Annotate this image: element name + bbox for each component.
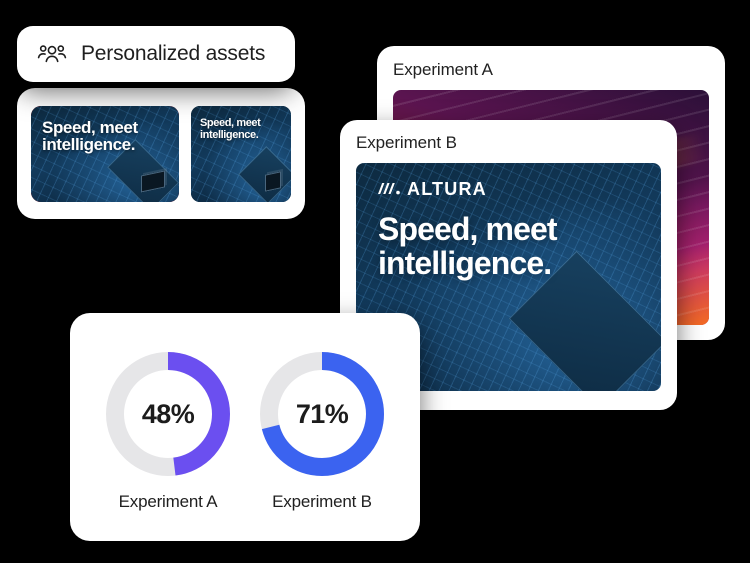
creative-headline-line-1: Speed, meet — [378, 213, 557, 247]
donut-value-experiment-b: 71% — [256, 348, 388, 480]
altura-logo: ALTURA — [378, 179, 557, 200]
donut-value-experiment-a: 48% — [102, 348, 234, 480]
thumbnail-headline: Speed, meet intelligence. — [200, 117, 282, 143]
metric-label-experiment-b: Experiment B — [272, 492, 372, 512]
thumbnail-headline: Speed, meet intelligence. — [42, 119, 162, 155]
experiment-a-title: Experiment A — [393, 60, 709, 80]
screenshot-stage: Personalized assets Speed, meet intellig… — [0, 0, 750, 563]
altura-logo-text: ALTURA — [407, 179, 487, 200]
creative-headline-line-2: intelligence. — [378, 247, 557, 281]
creative-copy: ALTURA Speed, meet intelligence. — [378, 179, 557, 281]
metric-experiment-a: 48% Experiment A — [102, 348, 234, 512]
chip-decoration — [265, 171, 281, 192]
personalized-assets-card: Speed, meet intelligence. Speed, meet in… — [17, 88, 305, 219]
asset-thumbnail[interactable]: Speed, meet intelligence. — [191, 106, 291, 202]
experiment-b-title: Experiment B — [356, 133, 661, 153]
people-group-icon — [37, 42, 67, 66]
asset-thumbnail-selected[interactable]: Speed, meet intelligence. — [31, 106, 179, 202]
page-title: Personalized assets — [81, 42, 265, 66]
experiment-results-card: 48% Experiment A 71% Experiment B — [70, 313, 420, 541]
altura-logo-mark — [378, 181, 404, 198]
donut-chart-experiment-b: 71% — [256, 348, 388, 480]
metric-label-experiment-a: Experiment A — [119, 492, 218, 512]
personalized-assets-header: Personalized assets — [17, 26, 295, 82]
metric-experiment-b: 71% Experiment B — [256, 348, 388, 512]
donut-chart-experiment-a: 48% — [102, 348, 234, 480]
